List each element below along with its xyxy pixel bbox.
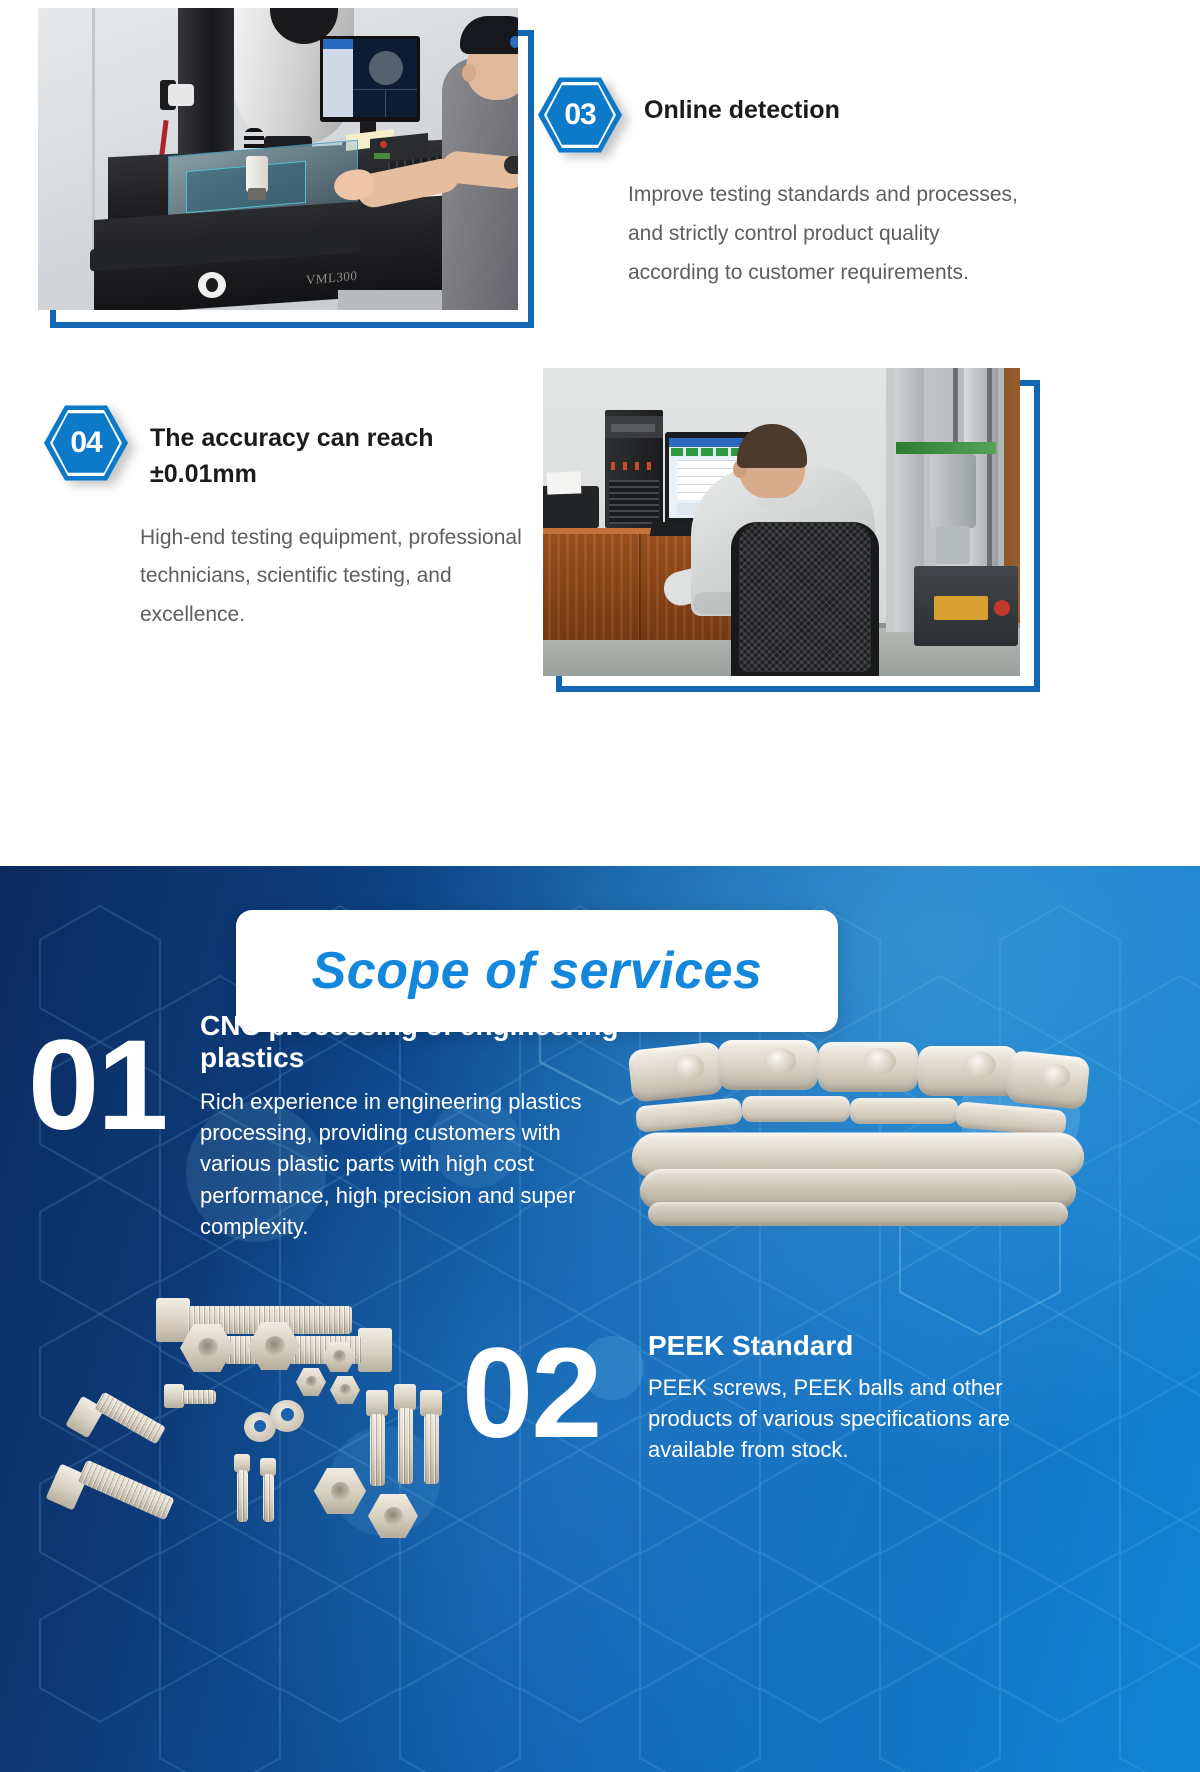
image-peek-screws-and-nuts [38,1272,508,1572]
service-cnc-processing: CNC processing of engineering plastics R… [200,1010,640,1242]
feature-title: The accuracy can reach ±0.01mm [150,404,540,493]
feature-title: Online detection [644,76,840,128]
features-section: VML300 03 Online detection Improve te [0,0,1200,866]
photo-testing-lab [540,362,1040,692]
image-peek-machined-part [622,1040,1092,1270]
feature-body: High-end testing equipment, professional… [140,519,540,636]
feature-accuracy: 04 The accuracy can reach ±0.01mm High-e… [140,404,540,635]
photo-image-metrology: VML300 [38,8,518,310]
service-body: PEEK screws, PEEK balls and other produc… [648,1372,1040,1466]
service-title: CNC processing of engineering plastics [200,1010,640,1074]
service-peek-standard: PEEK Standard PEEK screws, PEEK balls an… [648,1330,1048,1466]
service-title: PEEK Standard [648,1330,1048,1362]
badge-number-text: 04 [44,404,128,482]
feature-body: Improve testing standards and processes,… [628,176,1028,293]
service-number-01: 01 [28,1022,166,1150]
badge-number-03: 03 [538,76,622,154]
service-body: Rich experience in engineering plastics … [200,1086,620,1242]
feature-online-detection: 03 Online detection Improve testing stan… [628,76,1028,293]
badge-number-04: 04 [44,404,128,482]
photo-image-tensile-lab [543,368,1020,676]
badge-number-text: 03 [538,76,622,154]
scope-title: Scope of services [312,941,763,1001]
photo-online-detection: VML300 [38,8,538,328]
service-number-02: 02 [462,1330,600,1458]
